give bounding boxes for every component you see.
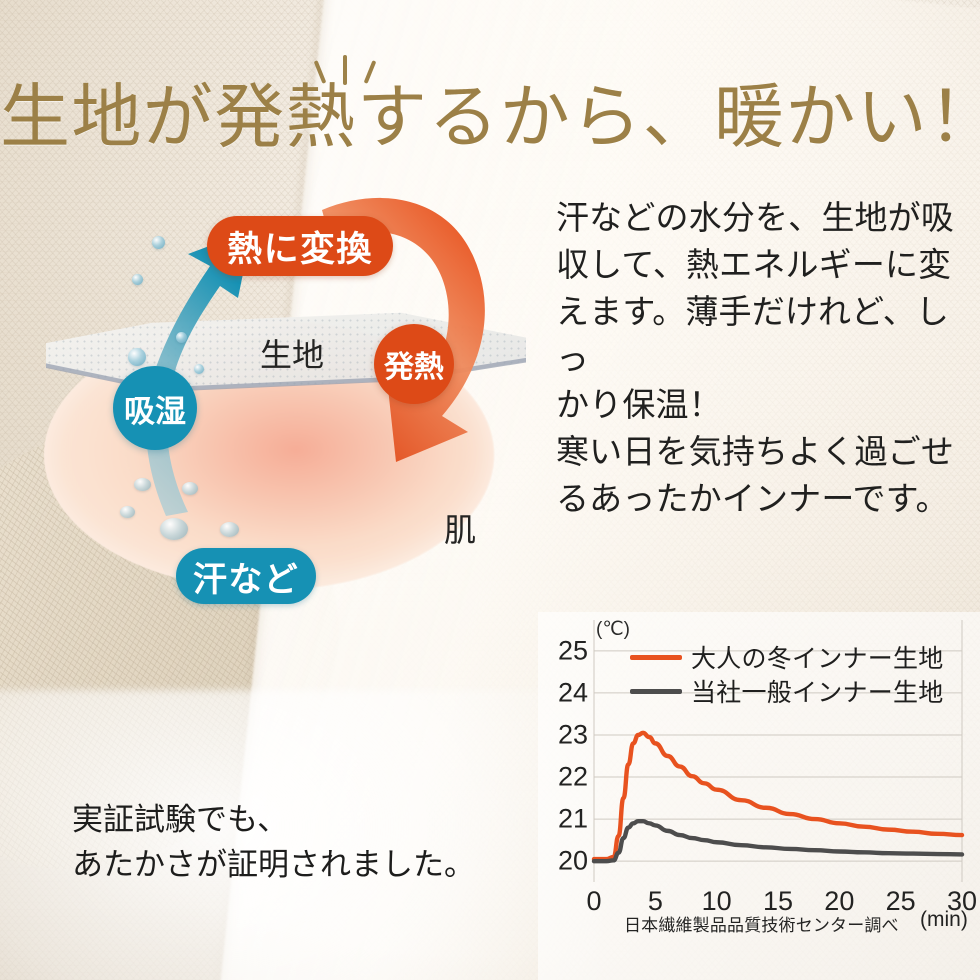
label-moisture-absorb: 吸湿 [113,366,197,450]
body-copy: 汗などの水分を、生地が吸 収して、熱エネルギーに変 えます。薄手だけれど、しっ … [556,196,964,524]
legend-label: 大人の冬インナー生地 [691,639,944,675]
body-line: えます。薄手だけれど、しっ [556,290,964,384]
legend-swatch [630,689,682,694]
moisture-bubble [176,332,187,343]
infographic-root: 生地が発熱するから、暖かい！ [0,0,980,980]
sweat-droplet [182,482,198,495]
chart-legend-item: 当社一般インナー生地 [630,674,944,708]
caption-line: 実証試験でも、 [72,798,542,843]
proof-caption: 実証試験でも、 あたかさが証明されました。 [72,798,542,888]
chart-legend-item: 大人の冬インナー生地 [630,640,944,674]
body-line: るあったかインナーです。 [556,477,964,524]
legend-label: 当社一般インナー生地 [691,673,944,709]
chart-x-unit: (min) [920,908,968,932]
moisture-bubble [152,236,165,249]
label-skin: 肌 [444,505,476,551]
body-line: かり保温！ [556,383,964,430]
moisture-bubble [132,274,143,285]
moisture-bubble [128,348,146,366]
temperature-chart: (℃) 202122232425 051015202530 大人の冬インナー生地… [538,612,980,980]
heat-mechanism-diagram: 熱に変換 吸湿 発熱 汗など 生地 肌 [24,200,534,620]
label-heat-generation: 発熱 [374,324,454,404]
caption-line: あたかさが証明されました。 [72,843,542,888]
body-line: 収して、熱エネルギーに変 [556,243,964,290]
body-line: 寒い日を気持ちよく過ごせ [556,430,964,477]
sweat-droplet [160,518,188,540]
sweat-droplet [220,522,239,537]
sweat-droplet [120,506,135,518]
chart-source-note: 日本繊維製品品質技術センター調べ [624,911,899,936]
label-fabric: 生地 [260,330,324,376]
body-line: 汗などの水分を、生地が吸 [556,196,964,243]
label-sweat: 汗など [176,548,316,604]
chart-legend: 大人の冬インナー生地当社一般インナー生地 [630,640,944,708]
sweat-droplet [134,478,151,491]
page-title: 生地が発熱するから、暖かい！ [0,84,980,154]
moisture-bubble [194,364,204,374]
legend-swatch [630,655,682,660]
label-heat-conversion: 熱に変換 [207,216,393,276]
